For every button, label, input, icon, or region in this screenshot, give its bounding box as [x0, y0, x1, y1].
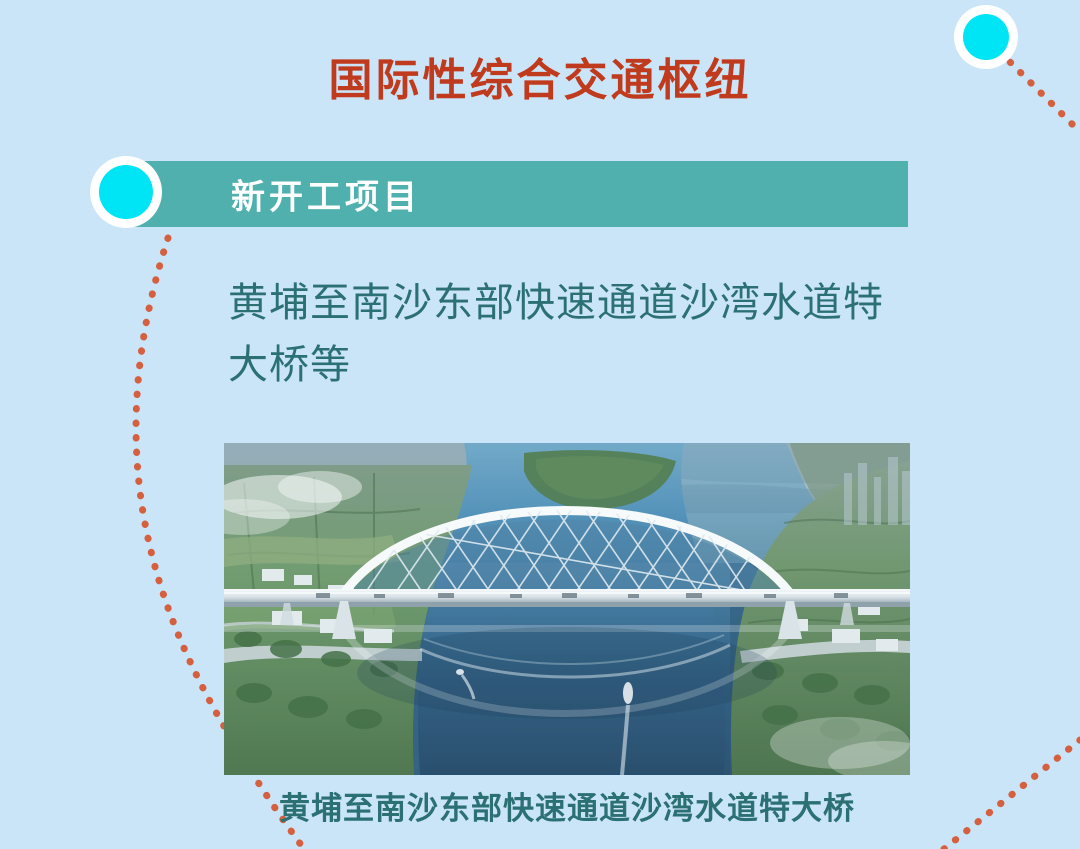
- bullet-dot-icon-top-right: [963, 14, 1009, 60]
- photo-caption: 黄埔至南沙东部快速通道沙湾水道特大桥: [224, 783, 910, 828]
- dotted-line-bottom-right: [944, 740, 1080, 849]
- page-title: 国际性综合交通枢纽: [0, 55, 1080, 108]
- bridge-rendering-illustration: [224, 443, 910, 775]
- project-description-text: 黄埔至南沙东部快速通道沙湾水道特大桥等: [228, 272, 918, 396]
- infographic-page: 国际性综合交通枢纽 新开工项目 黄埔至南沙东部快速通道沙湾水道特大桥等: [0, 0, 1080, 849]
- bullet-dot-icon-section: [99, 165, 153, 219]
- dotted-line-left-curve: [136, 238, 236, 746]
- section-header-label: 新开工项目: [231, 170, 421, 219]
- project-photo: [224, 443, 910, 775]
- section-header-bar: 新开工项目: [126, 161, 908, 227]
